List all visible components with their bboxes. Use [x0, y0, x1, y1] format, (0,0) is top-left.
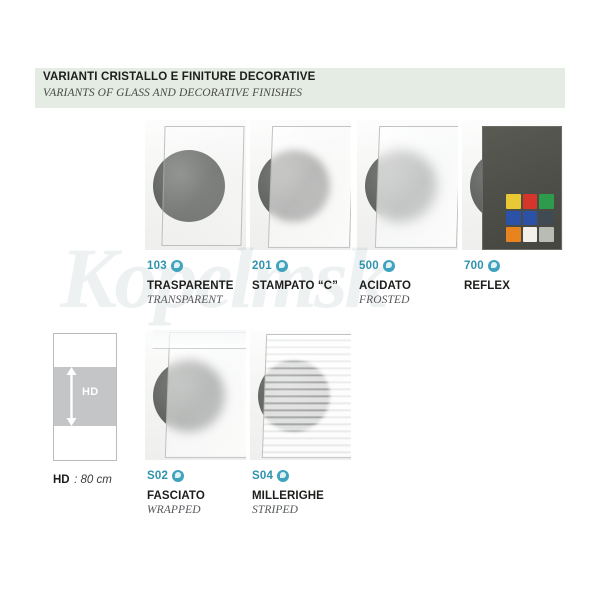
sample-tile-acidato[interactable] — [357, 120, 458, 250]
finish-name-en: TRANSPARENT — [147, 294, 234, 306]
finish-caption-trasparente: 103 TRASPARENTE TRANSPARENT — [147, 259, 234, 306]
finish-caption-millerighe: S04 MILLERIGHE STRIPED — [252, 469, 324, 516]
finish-caption-reflex: 700 REFLEX — [464, 259, 510, 294]
hd-caption-value: : 80 cm — [74, 474, 112, 486]
swatch-orange — [506, 227, 521, 242]
hd-caption-label: HD — [53, 474, 70, 486]
sample-tile-trasparente[interactable] — [145, 120, 246, 250]
section-header-band: VARIANTI CRISTALLO E FINITURE DECORATIVE… — [35, 68, 565, 108]
droplet-circle-icon — [383, 260, 395, 272]
finish-name: REFLEX — [464, 280, 510, 292]
sample-tile-millerighe[interactable] — [250, 330, 351, 460]
finish-name: MILLERIGHE — [252, 490, 324, 502]
code-row: S02 — [147, 469, 205, 483]
swatch-green — [539, 194, 554, 209]
double-arrow-icon — [66, 367, 77, 426]
glass-pane-stampato — [268, 126, 351, 248]
finish-name: FASCIATO — [147, 490, 205, 502]
finish-caption-fasciato: S02 FASCIATO WRAPPED — [147, 469, 205, 516]
glass-pane-transparent — [161, 126, 244, 246]
finish-name-en: WRAPPED — [147, 504, 205, 516]
code-row: 201 — [252, 259, 338, 273]
wrapped-band — [153, 330, 246, 349]
finish-code: 700 — [464, 260, 484, 272]
finish-name: TRASPARENTE — [147, 280, 234, 292]
code-row: 700 — [464, 259, 510, 273]
glass-pane-fasciato — [165, 332, 246, 458]
finish-caption-stampato-c: 201 STAMPATO “C” — [252, 259, 338, 294]
finish-code: 103 — [147, 260, 167, 272]
swatch-blue-1 — [506, 211, 521, 226]
finish-caption-acidato: 500 ACIDATO FROSTED — [359, 259, 411, 306]
swatch-gray — [539, 227, 554, 242]
droplet-circle-icon — [171, 260, 183, 272]
droplet-circle-icon — [172, 470, 184, 482]
hd-dimension-diagram: HD — [53, 333, 117, 461]
finish-name-en: STRIPED — [252, 504, 324, 516]
swatch-white — [523, 227, 538, 242]
finish-name-en: FROSTED — [359, 294, 411, 306]
sample-tile-reflex[interactable] — [462, 120, 563, 250]
code-row: 500 — [359, 259, 411, 273]
page-subtitle: VARIANTS OF GLASS AND DECORATIVE FINISHE… — [43, 87, 302, 99]
code-row: S04 — [252, 469, 324, 483]
finish-code: S02 — [147, 470, 168, 482]
page-title: VARIANTI CRISTALLO E FINITURE DECORATIVE — [43, 71, 315, 83]
swatch-red — [523, 194, 538, 209]
finish-code: S04 — [252, 470, 273, 482]
glass-pane-acidato — [375, 126, 458, 248]
hd-band-label: HD — [82, 386, 99, 398]
code-row: 103 — [147, 259, 234, 273]
swatch-yellow — [506, 194, 521, 209]
sample-tile-stampato-c[interactable] — [250, 120, 351, 250]
sample-tile-fasciato[interactable] — [145, 330, 246, 460]
swatch-dark — [539, 211, 554, 226]
swatch-blue-2 — [523, 211, 538, 226]
glass-pane-millerighe — [262, 334, 351, 458]
finish-name: ACIDATO — [359, 280, 411, 292]
finish-code: 500 — [359, 260, 379, 272]
hd-caption: HD : 80 cm — [53, 470, 112, 488]
droplet-circle-icon — [277, 470, 289, 482]
droplet-circle-icon — [276, 260, 288, 272]
finish-code: 201 — [252, 260, 272, 272]
finish-name: STAMPATO “C” — [252, 280, 338, 292]
color-reference-grid — [506, 194, 554, 242]
droplet-circle-icon — [488, 260, 500, 272]
